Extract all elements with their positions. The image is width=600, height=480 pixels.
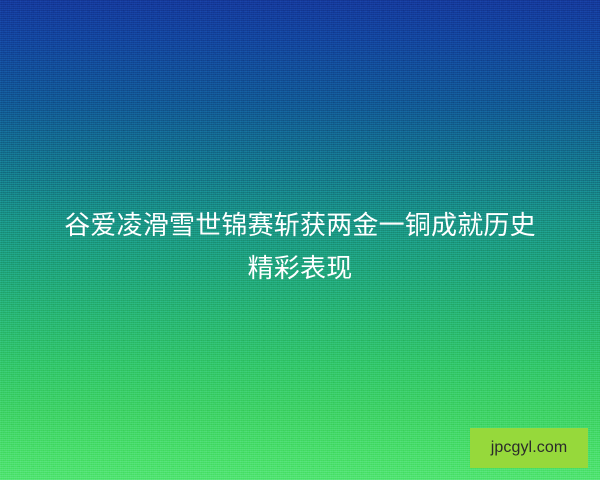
watermark-label: jpcgyl.com bbox=[491, 440, 568, 456]
article-banner-card: 谷爱凌滑雪世锦赛斩获两金一铜成就历史 精彩表现 jpcgyl.com bbox=[0, 0, 600, 480]
watermark-badge: jpcgyl.com bbox=[470, 428, 588, 468]
headline-title: 谷爱凌滑雪世锦赛斩获两金一铜成就历史 精彩表现 bbox=[0, 204, 600, 290]
